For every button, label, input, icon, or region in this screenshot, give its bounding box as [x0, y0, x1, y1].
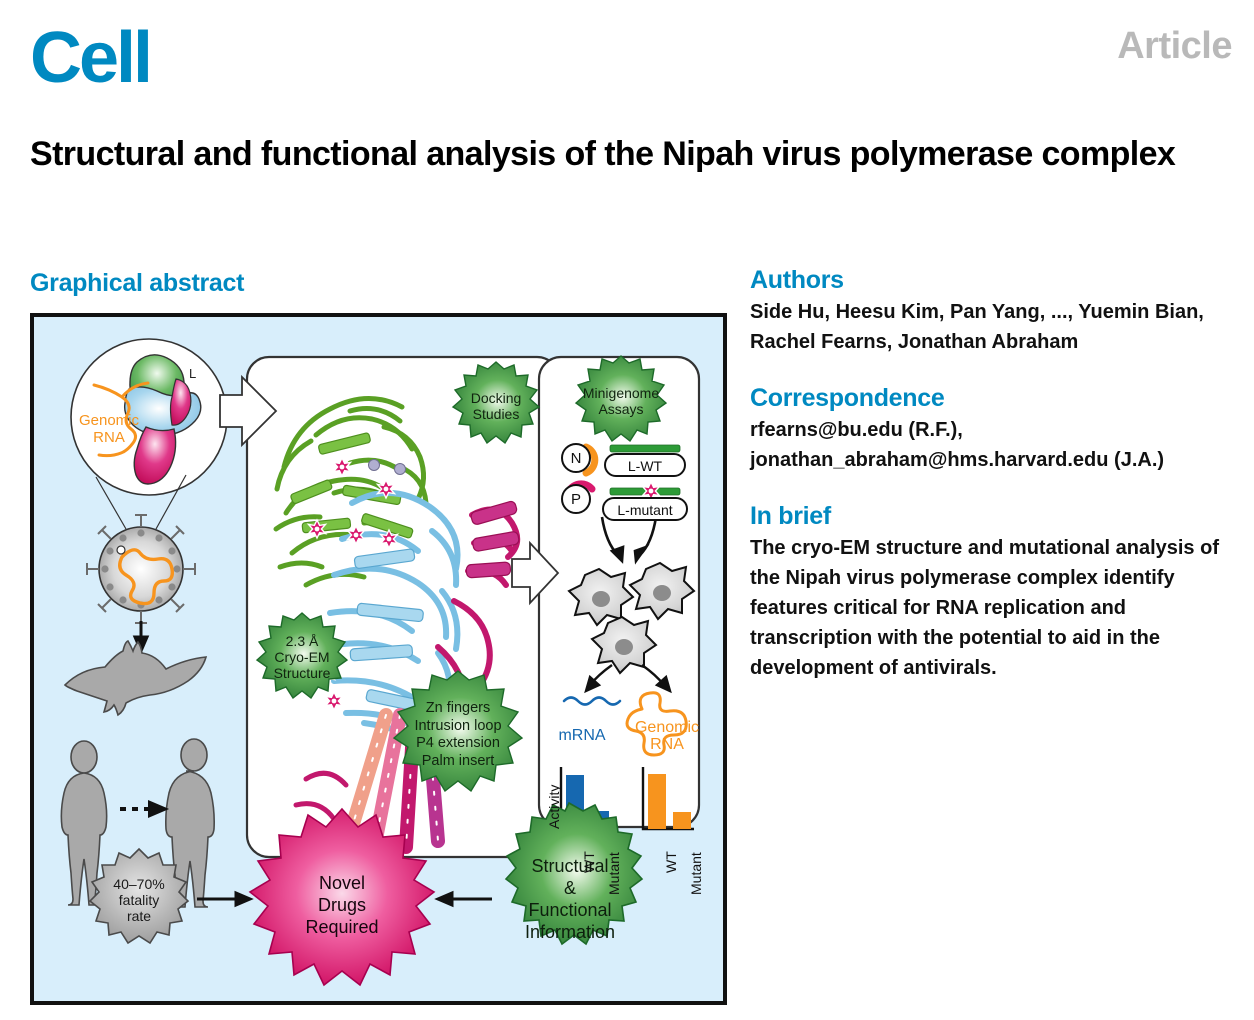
novel-drugs-line-2: Drugs — [285, 894, 399, 916]
graphical-abstract-figure: Genomic RNA L 40–70% fatality rate Docki… — [30, 313, 727, 1005]
construct-l-wt-label-wrap: L-WT — [604, 458, 686, 474]
burst-docking-studies: Docking Studies — [454, 390, 538, 422]
fatality-line-3: rate — [95, 908, 183, 924]
features-line-1: Zn fingers — [401, 700, 515, 718]
minigenome-line-1: Minigenome — [575, 385, 667, 401]
cryoem-line-2: Cryo-EM — [258, 649, 346, 665]
correspondence-block: Correspondence rfearns@bu.edu (R.F.), jo… — [750, 383, 1230, 475]
in-brief-heading: In brief — [750, 501, 1230, 531]
chart-xtick-genomic-mutant-text: Mutant — [688, 852, 704, 895]
article-type-label: Article — [1117, 26, 1232, 66]
features-line-4: Palm insert — [401, 753, 515, 771]
chart-ylabel-activity: Activity — [546, 785, 562, 829]
l-protein-label: L — [189, 366, 196, 381]
novel-drugs-line-1: Novel — [285, 872, 399, 894]
authors-block: Authors Side Hu, Heesu Kim, Pan Yang, ..… — [750, 265, 1230, 357]
features-line-2: Intrusion loop — [401, 718, 515, 736]
article-preview-page: Cell Article Structural and functional a… — [0, 0, 1254, 1020]
burst-novel-drugs-required: Novel Drugs Required — [285, 872, 399, 938]
chart-xtick-mrna-mutant-text: Mutant — [606, 852, 622, 895]
authors-list: Side Hu, Heesu Kim, Pan Yang, ..., Yuemi… — [750, 297, 1230, 357]
cryoem-line-1: 2.3 Å — [258, 633, 346, 649]
burst-minigenome-assays: Minigenome Assays — [575, 385, 667, 417]
n-protein-label: N — [571, 450, 582, 467]
chart-xtick-mrna-wt: WT — [581, 851, 597, 873]
chart-ylabel-activity-text: Activity — [546, 785, 562, 829]
chart-title-genomic-rna: Genomic RNA — [630, 719, 704, 753]
chart-title-mrna-text: mRNA — [558, 727, 605, 744]
authors-heading: Authors — [750, 265, 1230, 295]
genomic-rna-inset-text: Genomic RNA — [79, 412, 139, 446]
sfi-line-2: & — [495, 877, 645, 899]
correspondence-emails[interactable]: rfearns@bu.edu (R.F.), jonathan_abraham@… — [750, 415, 1230, 475]
chart-xtick-mrna-mutant: Mutant — [606, 852, 622, 895]
right-column: Authors Side Hu, Heesu Kim, Pan Yang, ..… — [750, 265, 1230, 709]
novel-drugs-line-3: Required — [285, 916, 399, 938]
burst-cryo-em-structure: 2.3 Å Cryo-EM Structure — [258, 633, 346, 681]
chart-title-mrna: mRNA — [547, 727, 617, 745]
chart-xtick-genomic-wt: WT — [663, 851, 679, 873]
sfi-line-4: Information — [495, 921, 645, 943]
sfi-line-3: Functional — [495, 899, 645, 921]
cell-journal-logo: Cell — [30, 22, 150, 94]
features-line-3: P4 extension — [401, 735, 515, 753]
l-protein-label-text: L — [189, 366, 196, 381]
page-title: Structural and functional analysis of th… — [30, 132, 1220, 177]
p-protein-label: P — [571, 491, 581, 508]
construct-l-mutant-label-wrap: L-mutant — [602, 502, 688, 518]
construct-l-wt-label: L-WT — [628, 458, 662, 474]
in-brief-text: The cryo-EM structure and mutational ana… — [750, 533, 1230, 683]
burst-structural-functional-info: Structural & Functional Information — [495, 855, 645, 943]
cryoem-line-3: Structure — [258, 665, 346, 681]
sfi-line-1: Structural — [495, 855, 645, 877]
p-protein-circle: P — [561, 484, 591, 514]
genomic-rna-inset-label: Genomic RNA — [66, 412, 152, 446]
construct-l-mutant-label: L-mutant — [617, 502, 672, 518]
chart-xtick-mrna-wt-text: WT — [581, 851, 597, 873]
burst-structural-features: Zn fingers Intrusion loop P4 extension P… — [401, 700, 515, 770]
graphical-abstract-heading: Graphical abstract — [30, 268, 244, 298]
chart-xtick-genomic-mutant: Mutant — [688, 852, 704, 895]
minigenome-line-2: Assays — [575, 401, 667, 417]
fatality-rate-badge: 40–70% fatality rate — [95, 876, 183, 924]
docking-line-2: Studies — [454, 406, 538, 422]
chart-title-genomic-rna-text: Genomic RNA — [635, 719, 699, 753]
correspondence-heading: Correspondence — [750, 383, 1230, 413]
docking-line-1: Docking — [454, 390, 538, 406]
fatality-line-1: 40–70% — [95, 876, 183, 892]
n-protein-circle: N — [561, 443, 591, 473]
chart-xtick-genomic-wt-text: WT — [663, 851, 679, 873]
in-brief-block: In brief The cryo-EM structure and mutat… — [750, 501, 1230, 683]
fatality-line-2: fatality — [95, 892, 183, 908]
